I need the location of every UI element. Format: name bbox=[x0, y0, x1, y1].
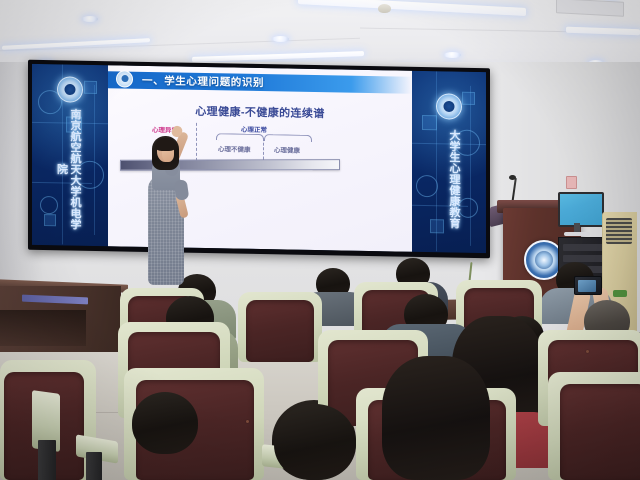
ac-brand-logo bbox=[613, 290, 627, 297]
wall-socket bbox=[566, 176, 577, 189]
lecture-hall-photo: 南京航空航天大学机电学院 一、学生心理问题的识别 心理健康-不健康的连续谱 心理… bbox=[0, 0, 640, 480]
slide-brace-right bbox=[264, 134, 312, 142]
slide-title: 一、学生心理问题的识别 bbox=[142, 73, 264, 90]
desk-shadow bbox=[0, 310, 86, 346]
person-head bbox=[132, 392, 198, 454]
ceiling-downlight bbox=[272, 36, 289, 42]
slide-label-healthy: 心理健康 bbox=[274, 144, 300, 154]
led-video-wall[interactable]: 南京航空航天大学机电学院 一、学生心理问题的识别 心理健康-不健康的连续谱 心理… bbox=[28, 60, 490, 258]
monitor-base bbox=[564, 232, 590, 236]
led-right-panel: 大学生心理健康教育 bbox=[412, 71, 486, 253]
slide-label-normal: 心理正常 bbox=[241, 124, 267, 134]
university-emblem-icon bbox=[57, 76, 83, 102]
phone-screen bbox=[578, 280, 596, 292]
seat-post bbox=[38, 440, 56, 480]
presenter-hair-front bbox=[155, 138, 176, 151]
seat-post bbox=[86, 452, 102, 480]
led-left-vertical-text: 南京航空航天大学机电学院 bbox=[59, 106, 81, 230]
ac-vent-grill bbox=[606, 218, 632, 244]
ceiling-downlight bbox=[444, 52, 461, 58]
slide-title-bar: 一、学生心理问题的识别 bbox=[108, 71, 412, 94]
microphone-icon bbox=[509, 175, 516, 180]
led-left-panel: 南京航空航天大学机电学院 bbox=[32, 64, 108, 246]
slide-label-unhealthy: 心理不健康 bbox=[218, 143, 251, 154]
smoke-detector-icon bbox=[378, 4, 391, 13]
slide-heading: 心理健康-不健康的连续谱 bbox=[108, 101, 412, 123]
slide-logo-icon bbox=[116, 70, 133, 87]
university-emblem-icon bbox=[436, 93, 462, 119]
led-right-vertical-text: 大学生心理健康教育 bbox=[438, 123, 460, 233]
person-head bbox=[274, 404, 356, 480]
ceiling-downlight bbox=[82, 16, 98, 22]
person-long-hair bbox=[382, 356, 490, 480]
smartphone[interactable] bbox=[574, 276, 602, 295]
slide-divider bbox=[196, 123, 197, 161]
led-wall-display: 南京航空航天大学机电学院 一、学生心理问题的识别 心理健康-不健康的连续谱 心理… bbox=[32, 64, 486, 253]
podium-monitor[interactable] bbox=[558, 192, 604, 227]
slide-brace-left bbox=[216, 133, 264, 141]
